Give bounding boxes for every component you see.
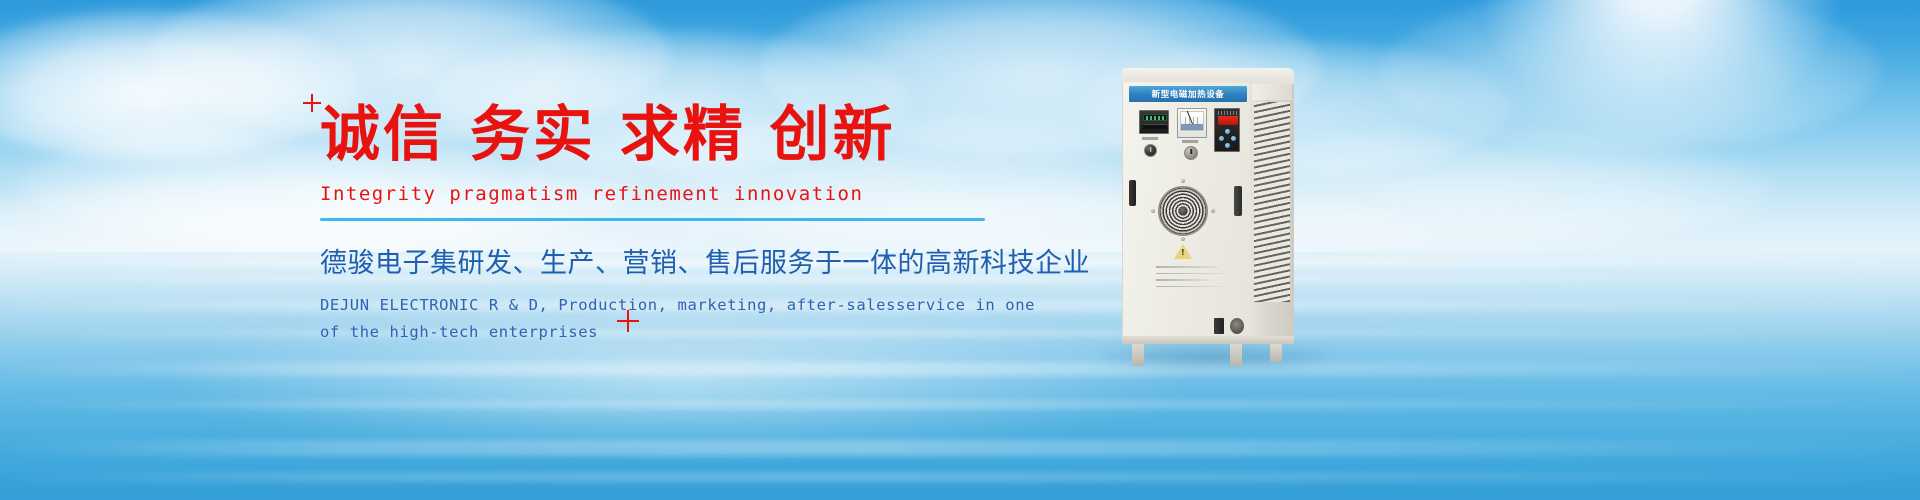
spec-sticker bbox=[1156, 266, 1226, 306]
controller-display bbox=[1143, 114, 1167, 121]
instrument-caption bbox=[1142, 137, 1158, 140]
divider-rule bbox=[320, 218, 985, 221]
machine-foot bbox=[1132, 344, 1144, 366]
meter-dial bbox=[1180, 111, 1204, 131]
control-knob-right[interactable] bbox=[1184, 146, 1198, 160]
controller-buttons[interactable] bbox=[1143, 124, 1167, 129]
keypad-red-display bbox=[1218, 116, 1238, 125]
product-machine: 新型电磁加热设备 bbox=[1122, 68, 1294, 358]
spec-line bbox=[1156, 279, 1210, 281]
water-streak bbox=[0, 400, 1920, 409]
fan-screw bbox=[1181, 237, 1185, 241]
instrument-caption bbox=[1182, 140, 1198, 143]
keypad-right-button[interactable] bbox=[1231, 136, 1236, 141]
keypad-buttons[interactable] bbox=[1218, 129, 1238, 149]
warning-triangle-icon bbox=[1174, 244, 1192, 259]
meter-label-strip bbox=[1181, 124, 1203, 130]
headline-english: Integrity pragmatism refinement innovati… bbox=[320, 183, 1040, 205]
banner-copy: 诚信 务实 求精 创新 Integrity pragmatism refinem… bbox=[320, 100, 1040, 346]
lower-vent bbox=[1214, 318, 1224, 334]
machine-base bbox=[1122, 336, 1294, 344]
machine-foot bbox=[1270, 344, 1282, 362]
spec-line bbox=[1156, 266, 1218, 268]
spec-line bbox=[1156, 286, 1222, 288]
machine-brand-label: 新型电磁加热设备 bbox=[1129, 86, 1247, 102]
control-knob-left[interactable] bbox=[1144, 144, 1157, 157]
keypad-up-button[interactable] bbox=[1225, 129, 1230, 134]
analog-meter-panel bbox=[1177, 108, 1207, 138]
keypad-left-button[interactable] bbox=[1219, 136, 1224, 141]
tagline-english-line-1: DEJUN ELECTRONIC R & D, Production, mark… bbox=[320, 292, 1040, 319]
lower-port bbox=[1230, 318, 1244, 334]
keypad-panel[interactable] bbox=[1214, 108, 1240, 152]
door-handle-right[interactable] bbox=[1234, 186, 1242, 216]
water-streak bbox=[0, 440, 1920, 456]
machine-vent-louvers bbox=[1254, 102, 1290, 302]
fan-screw bbox=[1211, 209, 1215, 213]
fan-screw bbox=[1151, 209, 1155, 213]
tagline-english-line-2: of the high-tech enterprises bbox=[320, 319, 1040, 346]
tagline-english: DEJUN ELECTRONIC R & D, Production, mark… bbox=[320, 292, 1040, 346]
cooling-fan-grille bbox=[1158, 186, 1208, 236]
water-streak bbox=[0, 472, 1920, 482]
keypad-header bbox=[1218, 111, 1238, 115]
keypad-down-button[interactable] bbox=[1225, 143, 1230, 148]
water-streak bbox=[0, 362, 1920, 376]
fan-screw bbox=[1181, 179, 1185, 183]
tagline-chinese: 德骏电子集研发、生产、营销、售后服务于一体的高新科技企业 bbox=[320, 241, 1040, 280]
door-handle-left[interactable] bbox=[1129, 180, 1136, 206]
promo-banner: 诚信 务实 求精 创新 Integrity pragmatism refinem… bbox=[0, 0, 1920, 500]
spec-line bbox=[1156, 273, 1226, 275]
machine-foot bbox=[1230, 344, 1242, 366]
headline-chinese: 诚信 务实 求精 创新 bbox=[320, 100, 1040, 171]
digital-controller-panel[interactable] bbox=[1139, 110, 1169, 134]
plus-decoration-icon bbox=[303, 94, 321, 112]
